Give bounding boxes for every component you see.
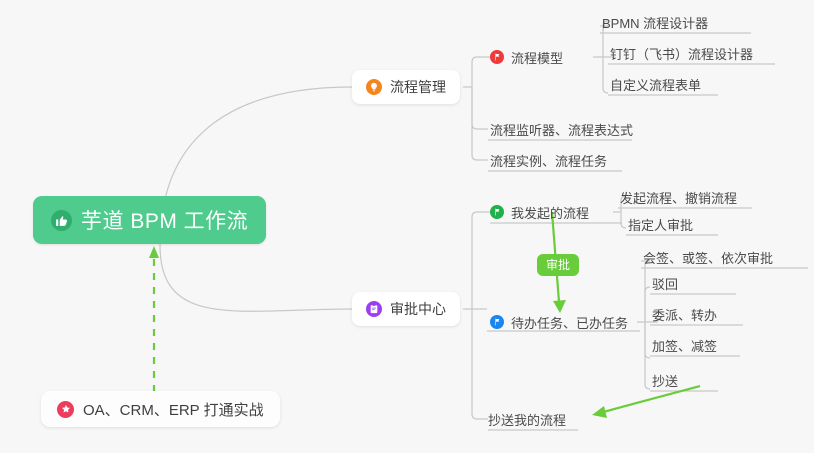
thumbs-up-icon	[51, 210, 72, 231]
wire-pm-l3	[603, 57, 608, 93]
note-label: OA、CRM、ERP 打通实战	[83, 399, 264, 420]
wire-td-l4	[645, 322, 650, 358]
flag-icon	[490, 50, 504, 64]
leaf-dingtalk-designer[interactable]: 钉钉（飞书）流程设计器	[610, 43, 753, 63]
leaf-label: 流程监听器、流程表达式	[490, 120, 633, 139]
star-icon	[57, 401, 74, 418]
wire-b2-c1	[472, 212, 490, 309]
leaf-my-initiated[interactable]: 我发起的流程	[490, 202, 589, 222]
leaf-label: 自定义流程表单	[610, 75, 701, 94]
leaf-bpmn-designer[interactable]: BPMN 流程设计器	[602, 12, 708, 32]
leaf-label: 待办任务、已办任务	[511, 313, 628, 332]
mindmap-canvas: 芋道 BPM 工作流 流程管理 流程模型 流程监听器、流程表达式 流程实例、流程…	[0, 0, 814, 453]
branch-node-process-management[interactable]: 流程管理	[352, 70, 460, 104]
leaf-label: BPMN 流程设计器	[602, 13, 708, 32]
flag-icon	[490, 205, 504, 219]
leaf-start-cancel-process[interactable]: 发起流程、撤销流程	[620, 187, 737, 207]
leaf-label: 会签、或签、依次审批	[643, 248, 773, 267]
wire-td-l5	[645, 322, 650, 389]
leaf-label: 抄送	[652, 371, 678, 390]
lightbulb-icon	[366, 79, 382, 95]
leaf-label: 钉钉（飞书）流程设计器	[610, 44, 753, 63]
annotation-arrow-cc	[592, 386, 700, 418]
wire-b1-c2	[472, 87, 488, 129]
branch-label: 审批中心	[390, 299, 446, 319]
annotation-badge-approval: 审批	[537, 254, 579, 276]
leaf-delegate-transfer[interactable]: 委派、转办	[652, 304, 717, 324]
annotation-arrow-note-to-root	[149, 246, 159, 392]
leaf-process-listener[interactable]: 流程监听器、流程表达式	[490, 119, 633, 139]
leaf-label: 委派、转办	[652, 305, 717, 324]
branch-label: 流程管理	[390, 77, 446, 97]
leaf-countersign[interactable]: 会签、或签、依次审批	[643, 247, 773, 267]
leaf-assignee-approval[interactable]: 指定人审批	[628, 214, 693, 234]
wire-fq-l2	[621, 212, 626, 228]
leaf-process-model[interactable]: 流程模型	[490, 47, 563, 67]
branch-node-approval-center[interactable]: 审批中心	[352, 292, 460, 326]
leaf-label: 指定人审批	[628, 215, 693, 234]
clipboard-icon	[366, 301, 382, 317]
leaf-label: 我发起的流程	[511, 203, 589, 222]
leaf-reject[interactable]: 驳回	[652, 273, 678, 293]
leaf-cc-to-me[interactable]: 抄送我的流程	[488, 409, 566, 429]
flag-icon	[490, 315, 504, 329]
leaf-carbon-copy[interactable]: 抄送	[652, 370, 678, 390]
leaf-label: 加签、减签	[652, 336, 717, 355]
wire-td-l1	[641, 261, 650, 322]
leaf-custom-form[interactable]: 自定义流程表单	[610, 74, 701, 94]
wire-b2-c3	[472, 309, 488, 419]
leaf-label: 流程模型	[511, 48, 563, 67]
wire-root-to-branch2	[160, 245, 352, 311]
wire-b1-c1	[472, 57, 490, 87]
note-node-integration[interactable]: OA、CRM、ERP 打通实战	[41, 391, 280, 427]
root-node[interactable]: 芋道 BPM 工作流	[33, 196, 266, 244]
leaf-process-instance[interactable]: 流程实例、流程任务	[490, 150, 607, 170]
leaf-add-remove-sign[interactable]: 加签、减签	[652, 335, 717, 355]
leaf-label: 驳回	[652, 274, 678, 293]
leaf-todo-done-tasks[interactable]: 待办任务、已办任务	[490, 312, 628, 332]
root-label: 芋道 BPM 工作流	[81, 205, 248, 235]
leaf-label: 抄送我的流程	[488, 410, 566, 429]
leaf-label: 流程实例、流程任务	[490, 151, 607, 170]
wire-b1-c3	[472, 87, 488, 160]
leaf-label: 发起流程、撤销流程	[620, 188, 737, 207]
wire-td-l2	[645, 287, 650, 322]
